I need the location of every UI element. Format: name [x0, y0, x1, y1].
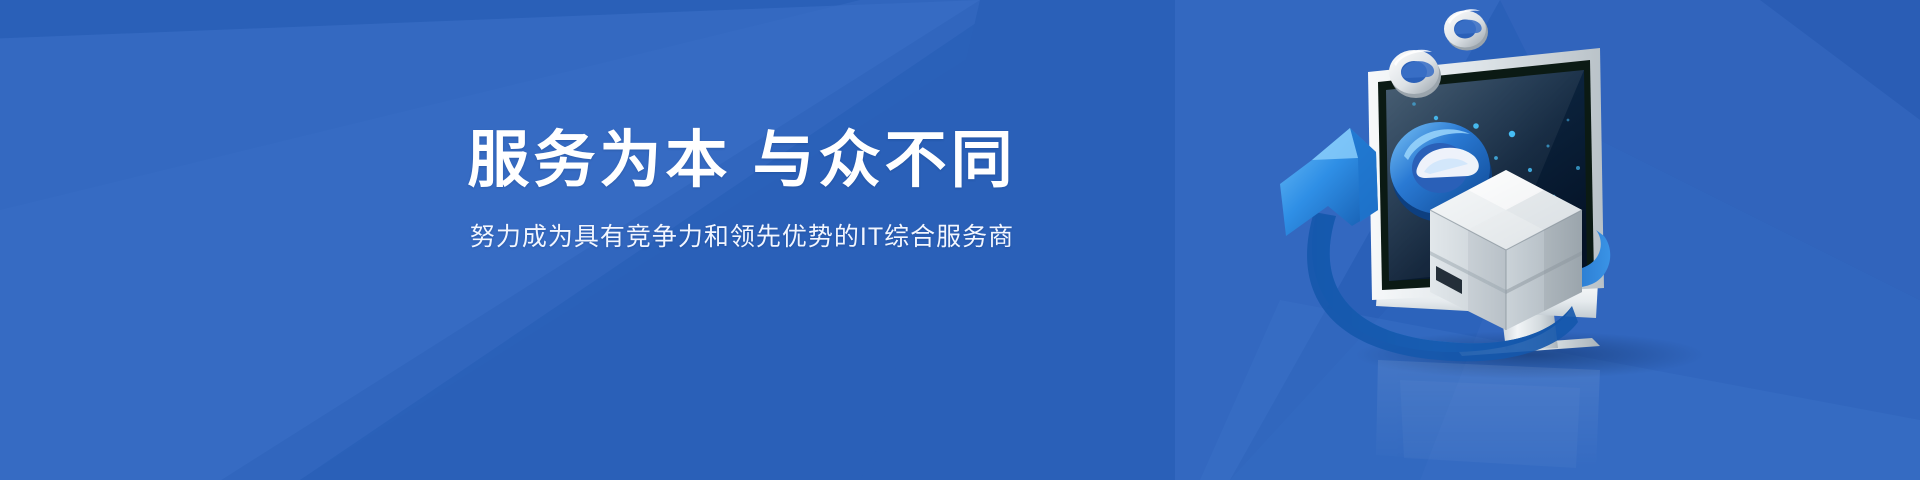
text-block: 服务为本 与众不同 努力成为具有竞争力和领先优势的IT综合服务商	[392, 128, 1092, 253]
monitor-reflection	[1376, 360, 1600, 470]
promo-banner: 服务为本 与众不同 努力成为具有竞争力和领先优势的IT综合服务商	[0, 0, 1920, 480]
subtitle: 努力成为具有竞争力和领先优势的IT综合服务商	[392, 217, 1092, 253]
headline: 服务为本 与众不同	[392, 128, 1092, 195]
small-e-top-icon	[1444, 9, 1488, 50]
hero-artwork	[1200, 0, 1920, 480]
arrow-head-highlight	[1312, 128, 1358, 160]
